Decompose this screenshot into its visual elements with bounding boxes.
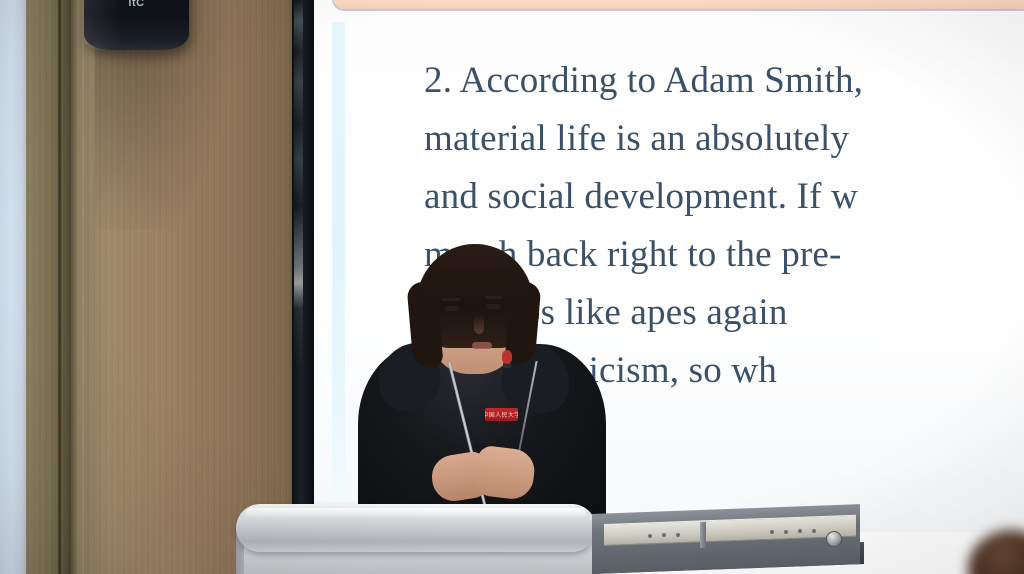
rail-control-knob[interactable]: [826, 531, 842, 547]
rail-indicator-7[interactable]: [812, 529, 816, 533]
equipment-rail-divider: [700, 522, 706, 548]
rail-indicator-2[interactable]: [662, 533, 666, 537]
presentation-photo-scene: 2. According to Adam Smith, material lif…: [0, 0, 1024, 574]
rail-indicator-1[interactable]: [648, 534, 652, 538]
rail-indicator-3[interactable]: [676, 533, 680, 537]
rail-indicator-6[interactable]: [798, 529, 802, 533]
rail-indicator-4[interactable]: [770, 530, 774, 534]
podium: [0, 0, 1024, 574]
rail-indicator-5[interactable]: [784, 530, 788, 534]
podium-top-highlight: [246, 508, 586, 518]
